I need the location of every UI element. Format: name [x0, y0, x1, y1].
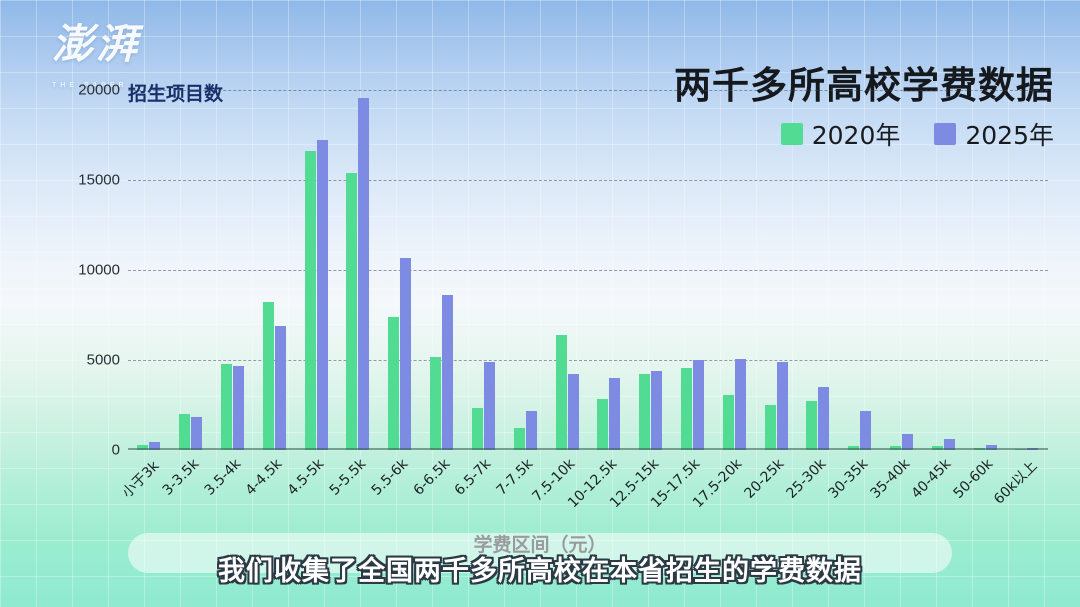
bar-series-2025 — [275, 326, 286, 450]
bar-group — [128, 90, 170, 450]
bar-series-2025 — [860, 411, 871, 450]
bar-series-2020 — [388, 317, 399, 450]
bar-group — [463, 90, 505, 450]
bar-group — [1006, 90, 1048, 450]
watermark-logo-text: 澎湃 — [52, 20, 140, 68]
y-axis-tick-label: 0 — [112, 442, 120, 459]
bar-series-2025 — [735, 359, 746, 450]
bar-series-2020 — [472, 408, 483, 450]
bar-series-2025 — [777, 362, 788, 450]
bars-layer — [128, 90, 1048, 450]
bar-group — [379, 90, 421, 450]
y-axis-tick-label: 10000 — [78, 262, 120, 279]
bar-series-2025 — [191, 417, 202, 450]
bar-series-2020 — [430, 357, 441, 450]
bar-group — [881, 90, 923, 450]
bar-group — [504, 90, 546, 450]
y-axis-tick-label: 15000 — [78, 172, 120, 189]
bar-series-2025 — [484, 362, 495, 450]
bar-series-2025 — [358, 98, 369, 450]
y-axis-tick-label: 5000 — [87, 352, 120, 369]
bar-series-2020 — [514, 428, 525, 450]
bar-group — [170, 90, 212, 450]
bar-series-2025 — [400, 258, 411, 450]
bar-group — [713, 90, 755, 450]
bar-series-2020 — [765, 405, 776, 450]
plot-area: 05000100001500020000 — [128, 90, 1048, 450]
bar-group — [755, 90, 797, 450]
bar-series-2025 — [317, 140, 328, 450]
bar-series-2020 — [305, 151, 316, 450]
chart-screenshot: 澎湃 THE PAPER 两千多所高校学费数据 2020年2025年 招生项目数… — [0, 0, 1080, 607]
bar-series-2020 — [639, 374, 650, 451]
bar-group — [337, 90, 379, 450]
bar-group — [421, 90, 463, 450]
bar-group — [546, 90, 588, 450]
x-axis-tick-labels: 小于3k3-3.5k3.5-4k4-4.5k4.5-5k5-5.5k5.5-6k… — [128, 452, 1048, 522]
bar-series-2025 — [818, 387, 829, 450]
bar-series-2025 — [568, 374, 579, 451]
bar-series-2025 — [651, 371, 662, 450]
bar-series-2020 — [346, 173, 357, 450]
bar-series-2020 — [263, 302, 274, 450]
x-axis-tick-label: 小于3k — [117, 456, 163, 502]
bar-series-2025 — [233, 366, 244, 450]
bar-group — [212, 90, 254, 450]
bar-group — [922, 90, 964, 450]
bar-group — [588, 90, 630, 450]
bar-group — [295, 90, 337, 450]
bar-series-2020 — [556, 335, 567, 450]
subtitle-caption: 我们收集了全国两千多所高校在本省招生的学费数据 — [0, 549, 1080, 588]
bar-series-2020 — [221, 364, 232, 450]
bar-series-2025 — [442, 295, 453, 450]
bar-series-2025 — [526, 411, 537, 450]
bar-series-2020 — [597, 399, 608, 450]
y-axis-tick-label: 20000 — [78, 82, 120, 99]
bar-group — [630, 90, 672, 450]
x-tick-cell: 60k以上 — [1006, 452, 1048, 522]
bar-series-2020 — [806, 401, 817, 450]
bar-series-2025 — [693, 360, 704, 450]
bar-series-2025 — [609, 378, 620, 450]
bar-series-2020 — [179, 414, 190, 450]
bar-group — [964, 90, 1006, 450]
bar-group — [253, 90, 295, 450]
x-axis-baseline — [128, 448, 1048, 450]
bar-group — [839, 90, 881, 450]
bar-group — [797, 90, 839, 450]
bar-series-2020 — [723, 395, 734, 450]
bar-group — [672, 90, 714, 450]
pengpai-watermark-logo: 澎湃 THE PAPER — [52, 22, 182, 84]
bar-series-2020 — [681, 368, 692, 450]
